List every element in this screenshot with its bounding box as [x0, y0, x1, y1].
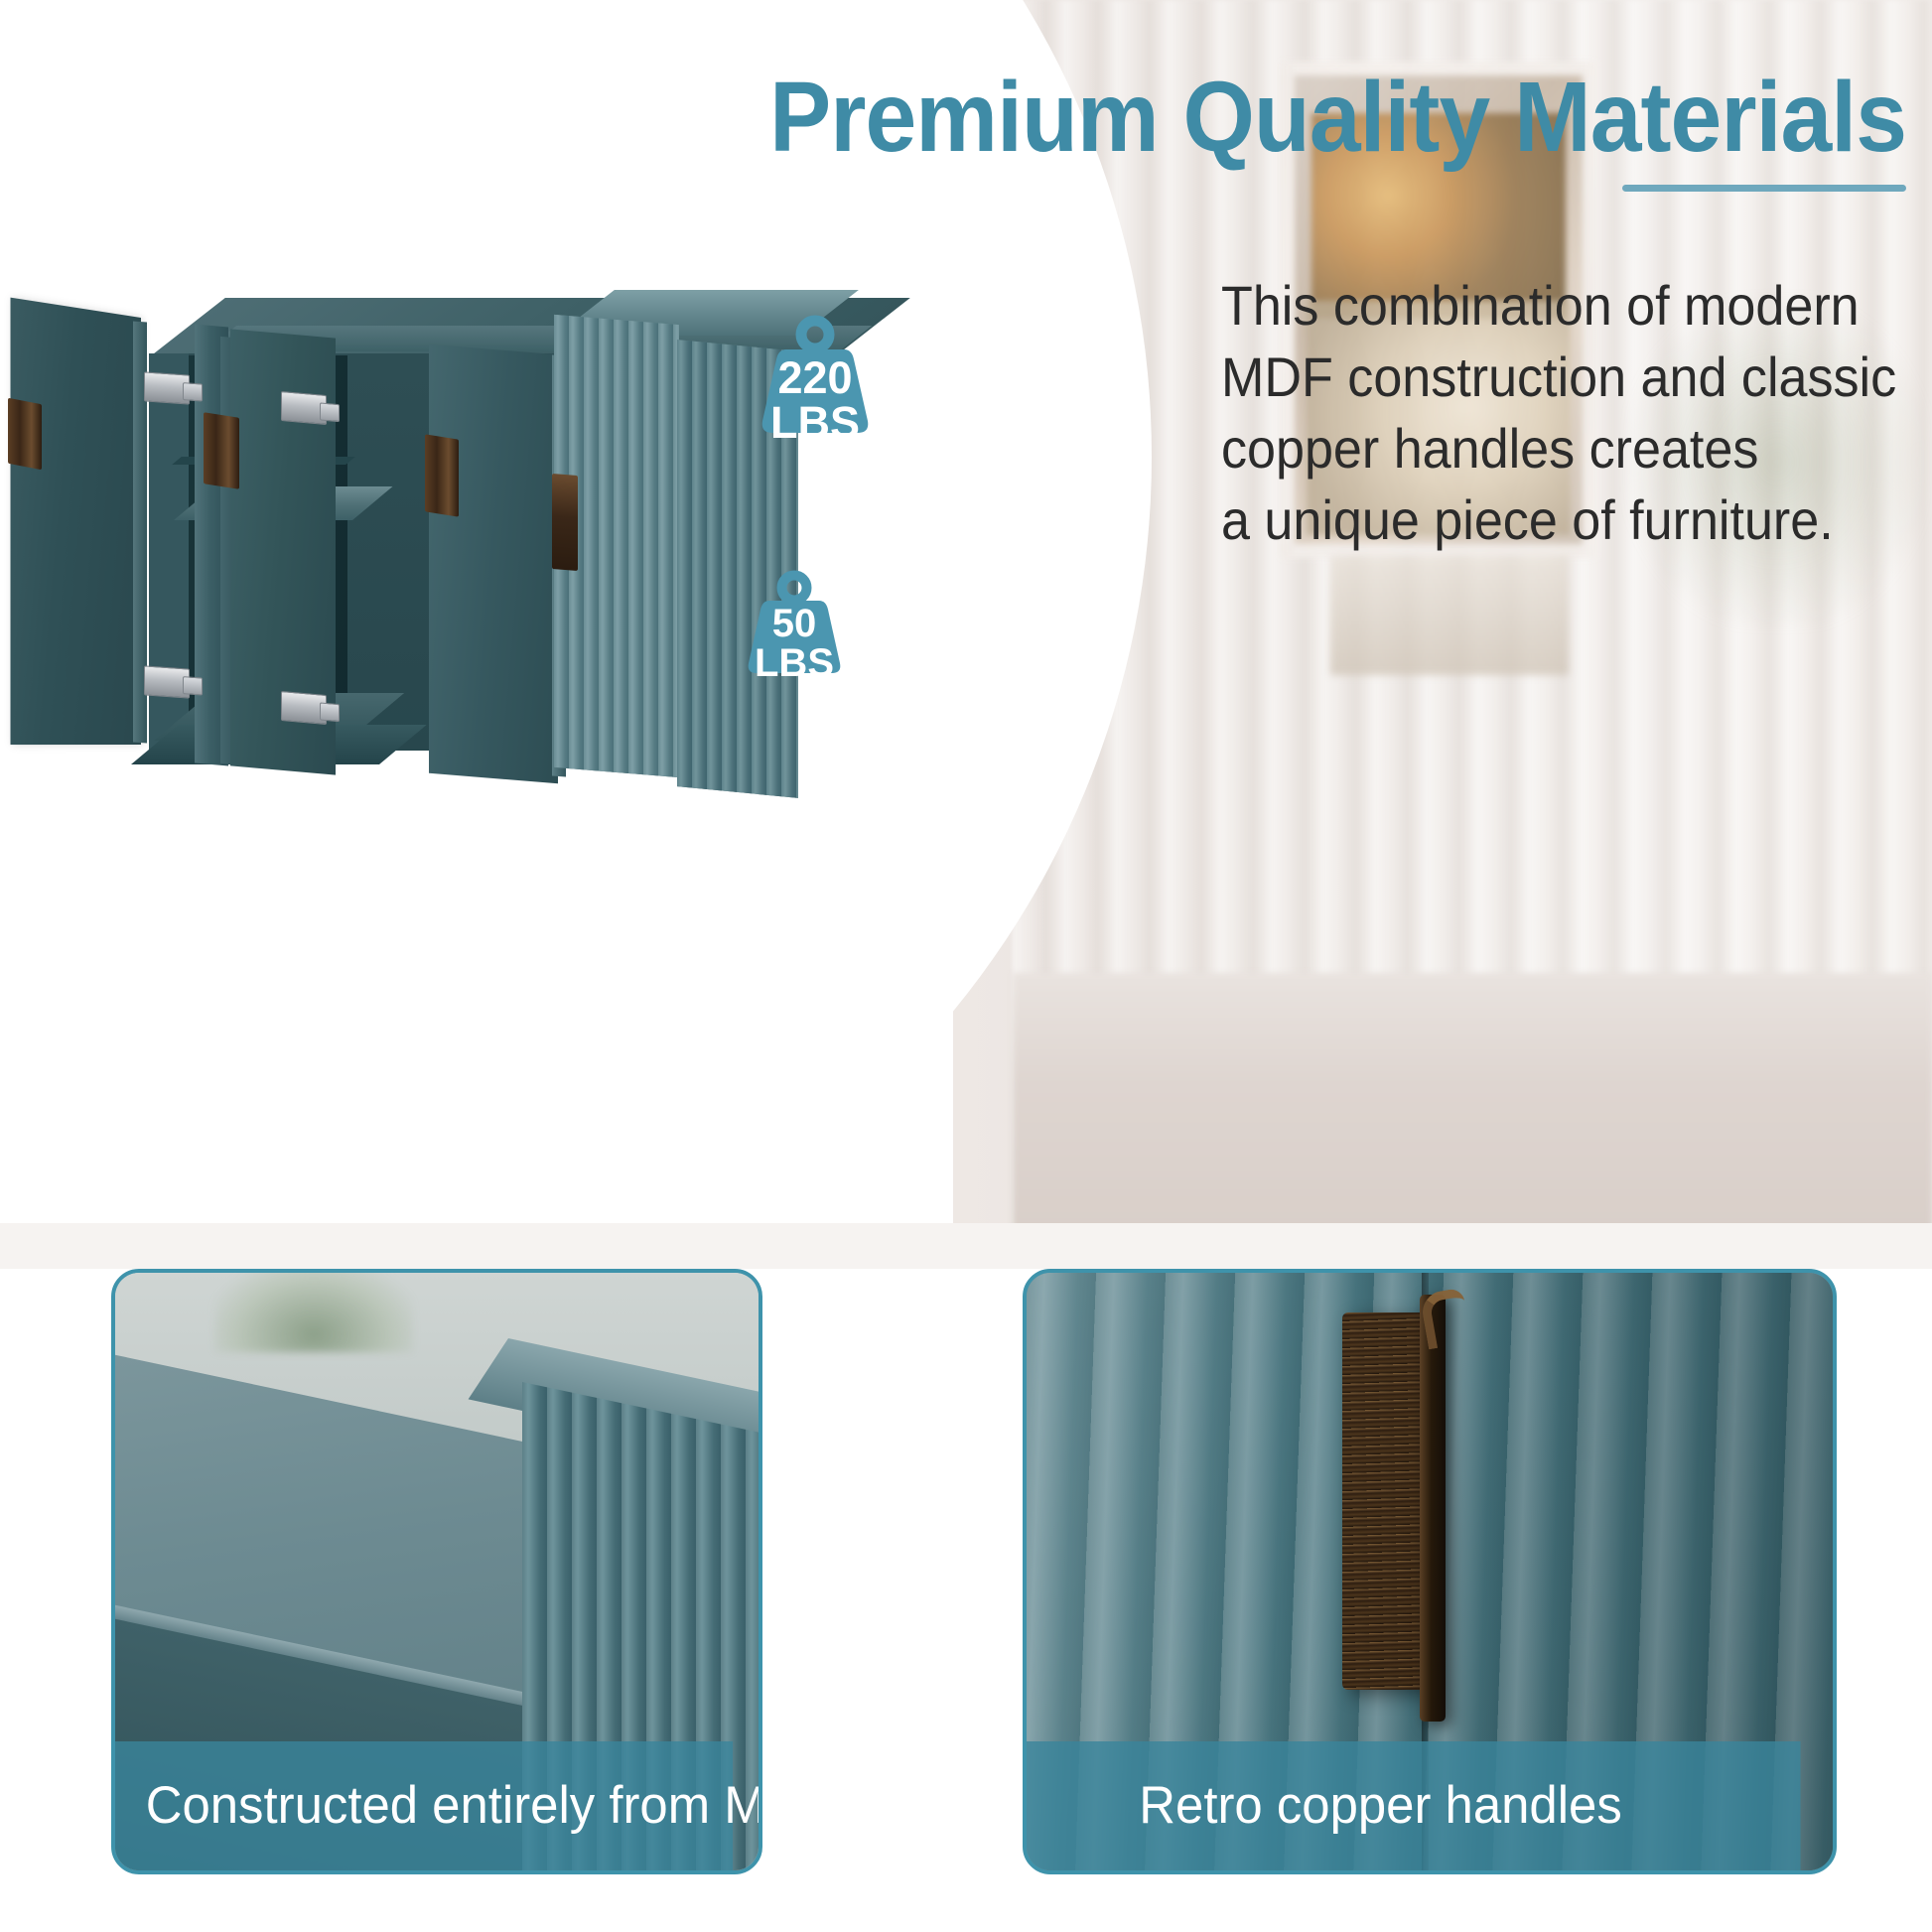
weight-badge-label: 50 LBS: [743, 604, 846, 683]
top-section: 220 LBS 50 LBS Premium Quality Materials…: [0, 0, 1932, 1251]
copper-hinge-plate-left-upper: [8, 398, 42, 471]
panel-left-caption: Constructed entirely from MDF: [115, 1741, 733, 1870]
feature-panel-mdf: Constructed entirely from MDF: [111, 1269, 762, 1874]
hinge-lower-left: [144, 665, 190, 698]
copper-hinge-plate-middle: [204, 412, 239, 489]
page-title: Premium Quality Materials: [530, 62, 1906, 173]
cabinet-door-open-far-left: [11, 298, 141, 745]
room-floor: [1013, 973, 1932, 1251]
hinge-upper-left: [144, 371, 190, 404]
hinge-lower-middle: [281, 691, 327, 725]
panel-left-plant: [214, 1269, 413, 1352]
feature-panel-handles: Retro copper handles: [1023, 1269, 1837, 1874]
description-line-1: This combination of modern: [1221, 270, 1904, 342]
hinge-upper-middle: [281, 391, 327, 425]
copper-handle-on-door: [552, 474, 578, 571]
description-line-2: MDF construction and classic: [1221, 342, 1904, 413]
description-line-3: copper handles creates: [1221, 413, 1904, 484]
description-paragraph: This combination of modern MDF construct…: [1221, 270, 1904, 556]
description-line-4: a unique piece of furniture.: [1221, 484, 1904, 556]
wall-picture-frame-secondary: [1330, 556, 1569, 675]
section-divider: [0, 1223, 1932, 1269]
title-underline-rule: [1622, 185, 1906, 192]
copper-hinge-plate-right: [425, 434, 459, 516]
weight-badge-label: 220 LBS: [757, 355, 874, 445]
white-fill-bottom: [0, 993, 953, 1251]
infographic-page: 220 LBS 50 LBS Premium Quality Materials…: [0, 0, 1932, 1932]
panel-right-caption: Retro copper handles: [1027, 1741, 1801, 1870]
cabinet-door-open-right: [429, 345, 558, 783]
